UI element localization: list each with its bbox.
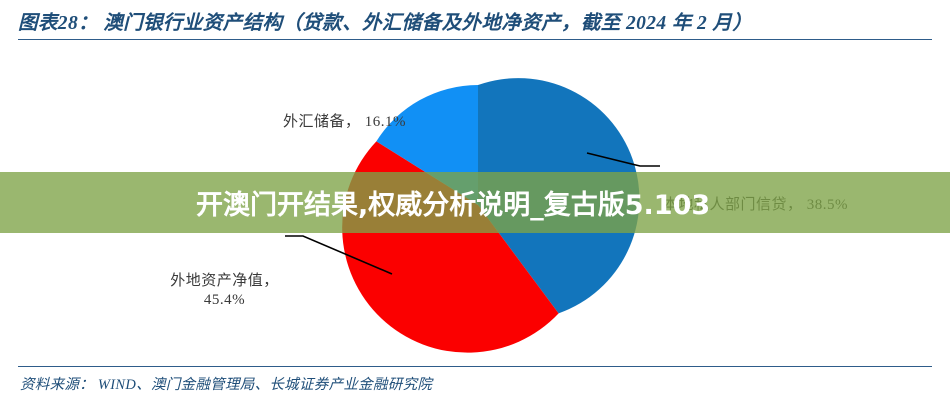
- figure-root: 图表28： 澳门银行业资产结构（贷款、外汇储备及外地净资产，截至 2024 年 …: [0, 0, 950, 400]
- data-label-net-external-assets-line2: 45.4%: [152, 291, 297, 310]
- page-title: 图表28： 澳门银行业资产结构（贷款、外汇储备及外地净资产，截至 2024 年 …: [18, 6, 752, 35]
- data-label-net-external-assets-line1: 外地资产净值，: [170, 273, 279, 289]
- source-divider: [18, 366, 932, 367]
- source-text: 资料来源： WIND、澳门金融管理局、长城证券产业金融研究院: [20, 373, 432, 394]
- figure-source-block: 资料来源： WIND、澳门金融管理局、长城证券产业金融研究院: [18, 366, 932, 396]
- data-label-net-external-assets: 外地资产净值， 45.4%: [152, 272, 297, 310]
- title-divider: [18, 39, 932, 40]
- data-label-local-private-credit-line1: 本地私人部门信贷，: [663, 197, 803, 213]
- figure-title-block: 图表28： 澳门银行业资产结构（贷款、外汇储备及外地净资产，截至 2024 年 …: [18, 6, 932, 42]
- data-label-local-private-credit: 本地私人部门信贷， 38.5%: [663, 196, 848, 215]
- data-label-foreign-reserves: 外汇储备， 16.1%: [283, 113, 406, 132]
- data-label-local-private-credit-line2: 38.5%: [807, 197, 848, 213]
- pie-chart-area: 外汇储备， 16.1% 本地私人部门信贷， 38.5% 外地资产净值， 45.4…: [0, 46, 950, 362]
